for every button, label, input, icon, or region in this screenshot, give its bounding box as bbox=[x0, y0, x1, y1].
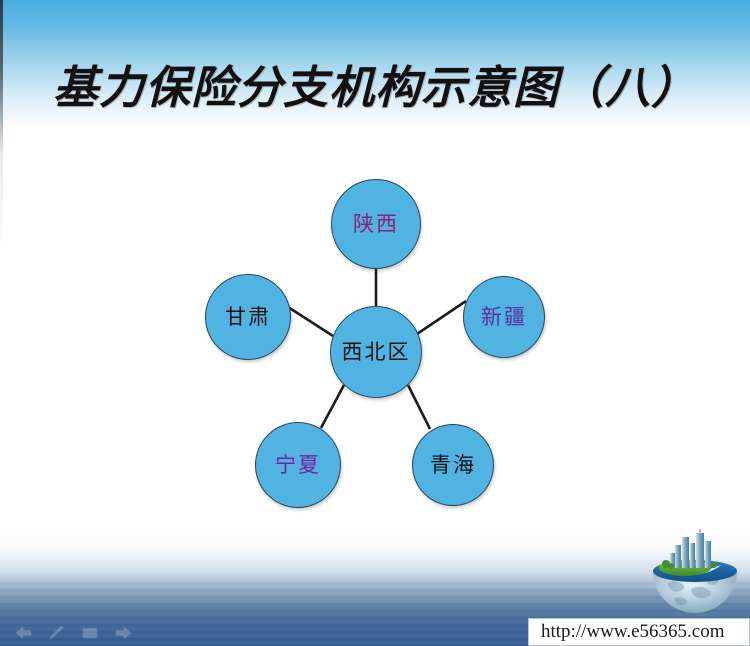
website-url-box[interactable]: http://www.e56365.com bbox=[528, 618, 750, 646]
node-label-qinghai: 青海 bbox=[430, 454, 476, 476]
diagram-node-ningxia[interactable]: 宁夏 bbox=[255, 422, 341, 508]
globe-city-logo bbox=[645, 527, 745, 619]
node-label-shaanxi: 陕西 bbox=[353, 213, 399, 235]
menu-box-icon[interactable] bbox=[80, 625, 100, 641]
pen-icon[interactable] bbox=[47, 625, 67, 641]
diagram-node-shaanxi[interactable]: 陕西 bbox=[331, 179, 421, 269]
diagram-node-qinghai[interactable]: 青海 bbox=[412, 424, 494, 506]
node-label-xinjiang: 新疆 bbox=[481, 306, 527, 328]
edge-center-ningxia bbox=[321, 385, 344, 428]
slideshow-nav-controls[interactable] bbox=[14, 622, 134, 644]
org-diagram: 甘肃 新疆 宁夏 青海 陕西 西北区 bbox=[0, 0, 750, 646]
edge-center-qinghai bbox=[408, 385, 430, 429]
node-label-ningxia: 宁夏 bbox=[275, 454, 321, 476]
arrow-right-icon[interactable] bbox=[113, 625, 133, 641]
diagram-node-gansu[interactable]: 甘肃 bbox=[205, 274, 291, 360]
node-label-gansu: 甘肃 bbox=[225, 306, 271, 328]
presentation-slide: 基力保险分支机构示意图（八） 甘肃 新疆 宁夏 青海 陕西 bbox=[0, 0, 750, 646]
diagram-node-center-northwest[interactable]: 西北区 bbox=[330, 306, 422, 398]
arrow-left-icon[interactable] bbox=[14, 625, 34, 641]
edge-center-xinjiang bbox=[417, 301, 466, 334]
node-label-center-northwest: 西北区 bbox=[342, 341, 411, 363]
website-url-text: http://www.e56365.com bbox=[541, 621, 724, 643]
diagram-node-xinjiang[interactable]: 新疆 bbox=[463, 276, 545, 358]
edge-center-gansu bbox=[288, 307, 333, 336]
